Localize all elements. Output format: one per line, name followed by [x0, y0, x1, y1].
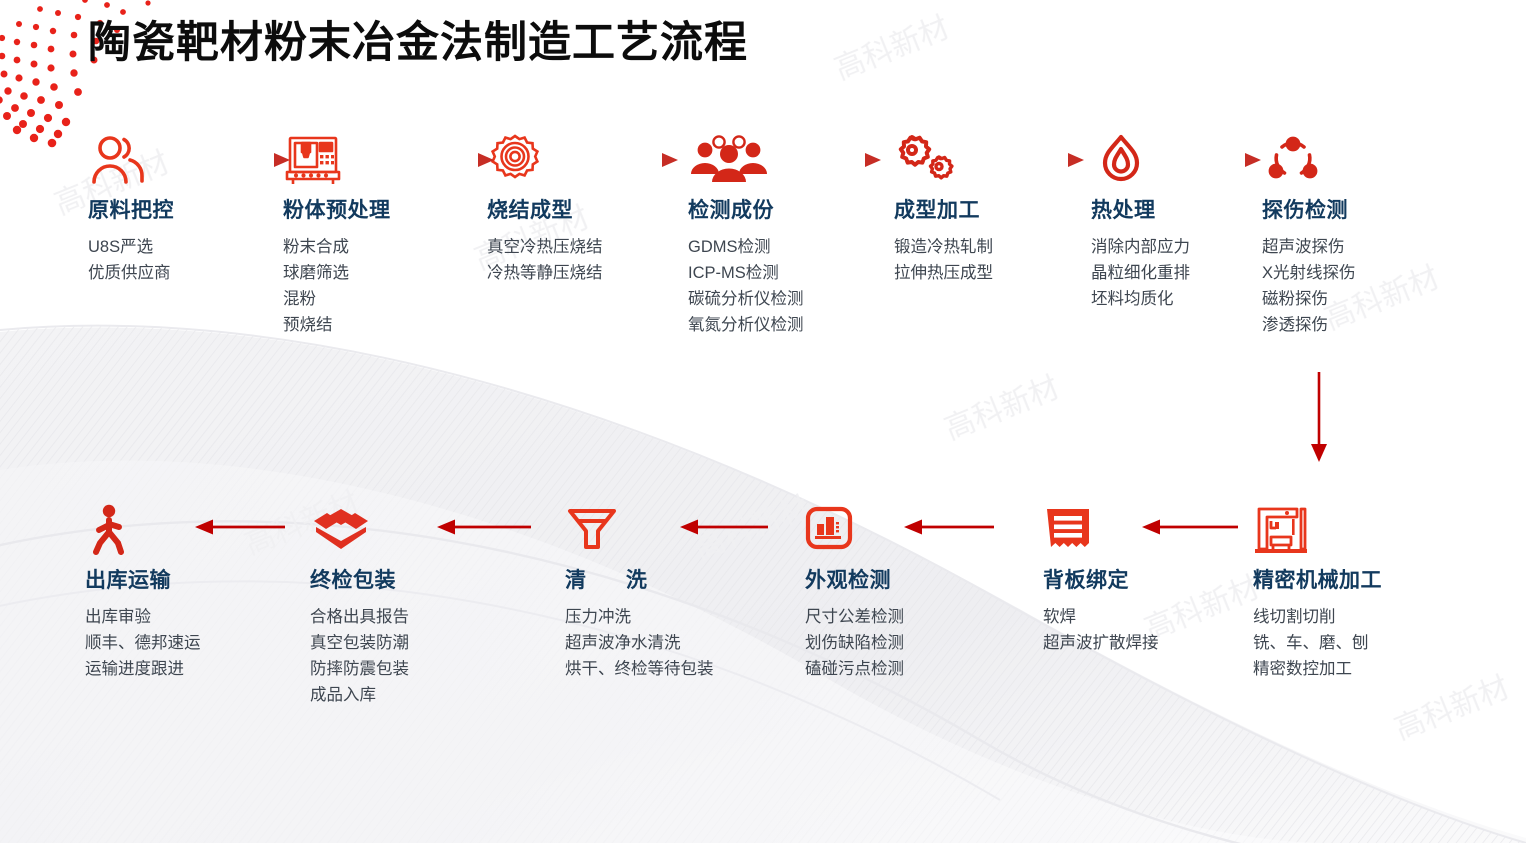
step-detail-list: 软焊 超声波扩散焊接 — [1043, 604, 1243, 656]
detail-line: 混粉 — [283, 286, 483, 312]
step-title: 粉体预处理 — [283, 198, 483, 223]
detail-line: 尺寸公差检测 — [805, 604, 1005, 630]
detail-line: 真空冷热压烧结 — [487, 234, 687, 260]
flow-arrow-right — [994, 150, 1086, 170]
flow-arrow-right — [797, 150, 883, 170]
flow-arrow-right — [400, 150, 496, 170]
detail-line: 消除内部应力 — [1091, 234, 1291, 260]
flow-arrow-left — [193, 518, 285, 536]
step-title: 探伤检测 — [1262, 198, 1462, 223]
step-detail-list: 压力冲洗 超声波净水清洗 烘干、终检等待包装 — [565, 604, 765, 682]
step-detail-list: 消除内部应力 晶粒细化重排 坯料均质化 — [1091, 234, 1291, 312]
step-title: 检测成份 — [688, 198, 888, 223]
detail-line: 成品入库 — [310, 682, 510, 708]
detail-line: 球磨筛选 — [283, 260, 483, 286]
detail-line: ICP-MS检测 — [688, 260, 888, 286]
flow-arrow-left — [1140, 518, 1238, 536]
detail-line: U8S严选 — [88, 234, 288, 260]
detail-line: 磁粉探伤 — [1262, 286, 1462, 312]
process-flow-infographic: 高科新材 高科新材 高科新材 高科新材 高科新材 高科新材 高科新材 高科新材 … — [0, 0, 1526, 843]
detail-line: 划伤缺陷检测 — [805, 630, 1005, 656]
step-title: 清 洗 — [565, 568, 765, 593]
background-swoosh: 高科新材 高科新材 高科新材 高科新材 高科新材 高科新材 高科新材 高科新材 … — [0, 0, 1526, 843]
step-title: 成型加工 — [894, 198, 1094, 223]
detail-line: 拉伸热压成型 — [894, 260, 1094, 286]
three-nodes-icon — [1262, 130, 1462, 188]
detail-line: 氧氮分析仪检测 — [688, 312, 888, 338]
detail-line: 精密数控加工 — [1253, 656, 1453, 682]
detail-line: 运输进度跟进 — [85, 656, 285, 682]
detail-line: 顺丰、德邦速运 — [85, 630, 285, 656]
detail-line: 超声波净水清洗 — [565, 630, 765, 656]
detail-line: 出库审验 — [85, 604, 285, 630]
step-detail-list: 真空冷热压烧结 冷热等静压烧结 — [487, 234, 687, 286]
flow-arrow-left — [902, 518, 994, 536]
detail-line: 超声波扩散焊接 — [1043, 630, 1243, 656]
detail-line: 锻造冷热轧制 — [894, 234, 1094, 260]
step-detail-list: GDMS检测 ICP-MS检测 碳硫分析仪检测 氧氮分析仪检测 — [688, 234, 888, 338]
step-title: 烧结成型 — [487, 198, 687, 223]
detail-line: 碳硫分析仪检测 — [688, 286, 888, 312]
step-detail-list: U8S严选 优质供应商 — [88, 234, 288, 286]
watermark-text: 高科新材 — [940, 371, 1064, 447]
cnc-machine-icon — [1253, 500, 1453, 558]
detail-line: 合格出具报告 — [310, 604, 510, 630]
step-detail-list: 线切割切削 铣、车、磨、刨 精密数控加工 — [1253, 604, 1453, 682]
step-title: 原料把控 — [88, 198, 288, 223]
step-title: 外观检测 — [805, 568, 1005, 593]
step-flaw-detection: 探伤检测 超声波探伤 X光射线探伤 磁粉探伤 渗透探伤 — [1262, 130, 1462, 338]
page-title: 陶瓷靶材粉末冶金法制造工艺流程 — [88, 8, 748, 70]
step-detail-list: 合格出具报告 真空包装防潮 防摔防震包装 成品入库 — [310, 604, 510, 708]
step-title: 热处理 — [1091, 198, 1291, 223]
detail-line: X光射线探伤 — [1262, 260, 1462, 286]
detail-line: 预烧结 — [283, 312, 483, 338]
detail-line: 坯料均质化 — [1091, 286, 1291, 312]
detail-line: 防摔防震包装 — [310, 656, 510, 682]
detail-line: 烘干、终检等待包装 — [565, 656, 717, 682]
step-title: 背板绑定 — [1043, 568, 1243, 593]
flow-arrow-left — [435, 518, 531, 536]
step-title: 精密机械加工 — [1253, 568, 1453, 593]
step-detail-list: 出库审验 顺丰、德邦速运 运输进度跟进 — [85, 604, 285, 682]
background-decoration: 高科新材 高科新材 高科新材 高科新材 高科新材 高科新材 高科新材 高科新材 … — [0, 0, 1526, 843]
detail-line: 铣、车、磨、刨 — [1253, 630, 1453, 656]
step-detail-list: 锻造冷热轧制 拉伸热压成型 — [894, 234, 1094, 286]
detail-line: 线切割切削 — [1253, 604, 1453, 630]
detail-line: GDMS检测 — [688, 234, 888, 260]
watermark-text: 高科新材 — [830, 11, 954, 87]
step-detail-list: 粉末合成 球磨筛选 混粉 预烧结 — [283, 234, 483, 338]
detail-line: 冷热等静压烧结 — [487, 260, 687, 286]
flow-arrow-right — [1185, 150, 1263, 170]
step-title: 终检包装 — [310, 568, 510, 593]
detail-line: 粉末合成 — [283, 234, 483, 260]
step-detail-list: 尺寸公差检测 划伤缺陷检测 磕碰污点检测 — [805, 604, 1005, 682]
detail-line: 压力冲洗 — [565, 604, 765, 630]
detail-line: 晶粒细化重排 — [1091, 260, 1291, 286]
step-detail-list: 超声波探伤 X光射线探伤 磁粉探伤 渗透探伤 — [1262, 234, 1462, 338]
detail-line: 软焊 — [1043, 604, 1243, 630]
detail-line: 磕碰污点检测 — [805, 656, 1005, 682]
detail-line: 超声波探伤 — [1262, 234, 1462, 260]
flow-arrow-right — [600, 150, 680, 170]
flow-arrow-left — [678, 518, 768, 536]
detail-line: 优质供应商 — [88, 260, 288, 286]
step-precision-machining: 精密机械加工 线切割切削 铣、车、磨、刨 精密数控加工 — [1253, 500, 1453, 682]
detail-line: 渗透探伤 — [1262, 312, 1462, 338]
vertical-down-arrow — [1306, 372, 1332, 464]
flow-arrow-right — [196, 150, 292, 170]
detail-line: 真空包装防潮 — [310, 630, 510, 656]
step-title: 出库运输 — [85, 568, 285, 593]
